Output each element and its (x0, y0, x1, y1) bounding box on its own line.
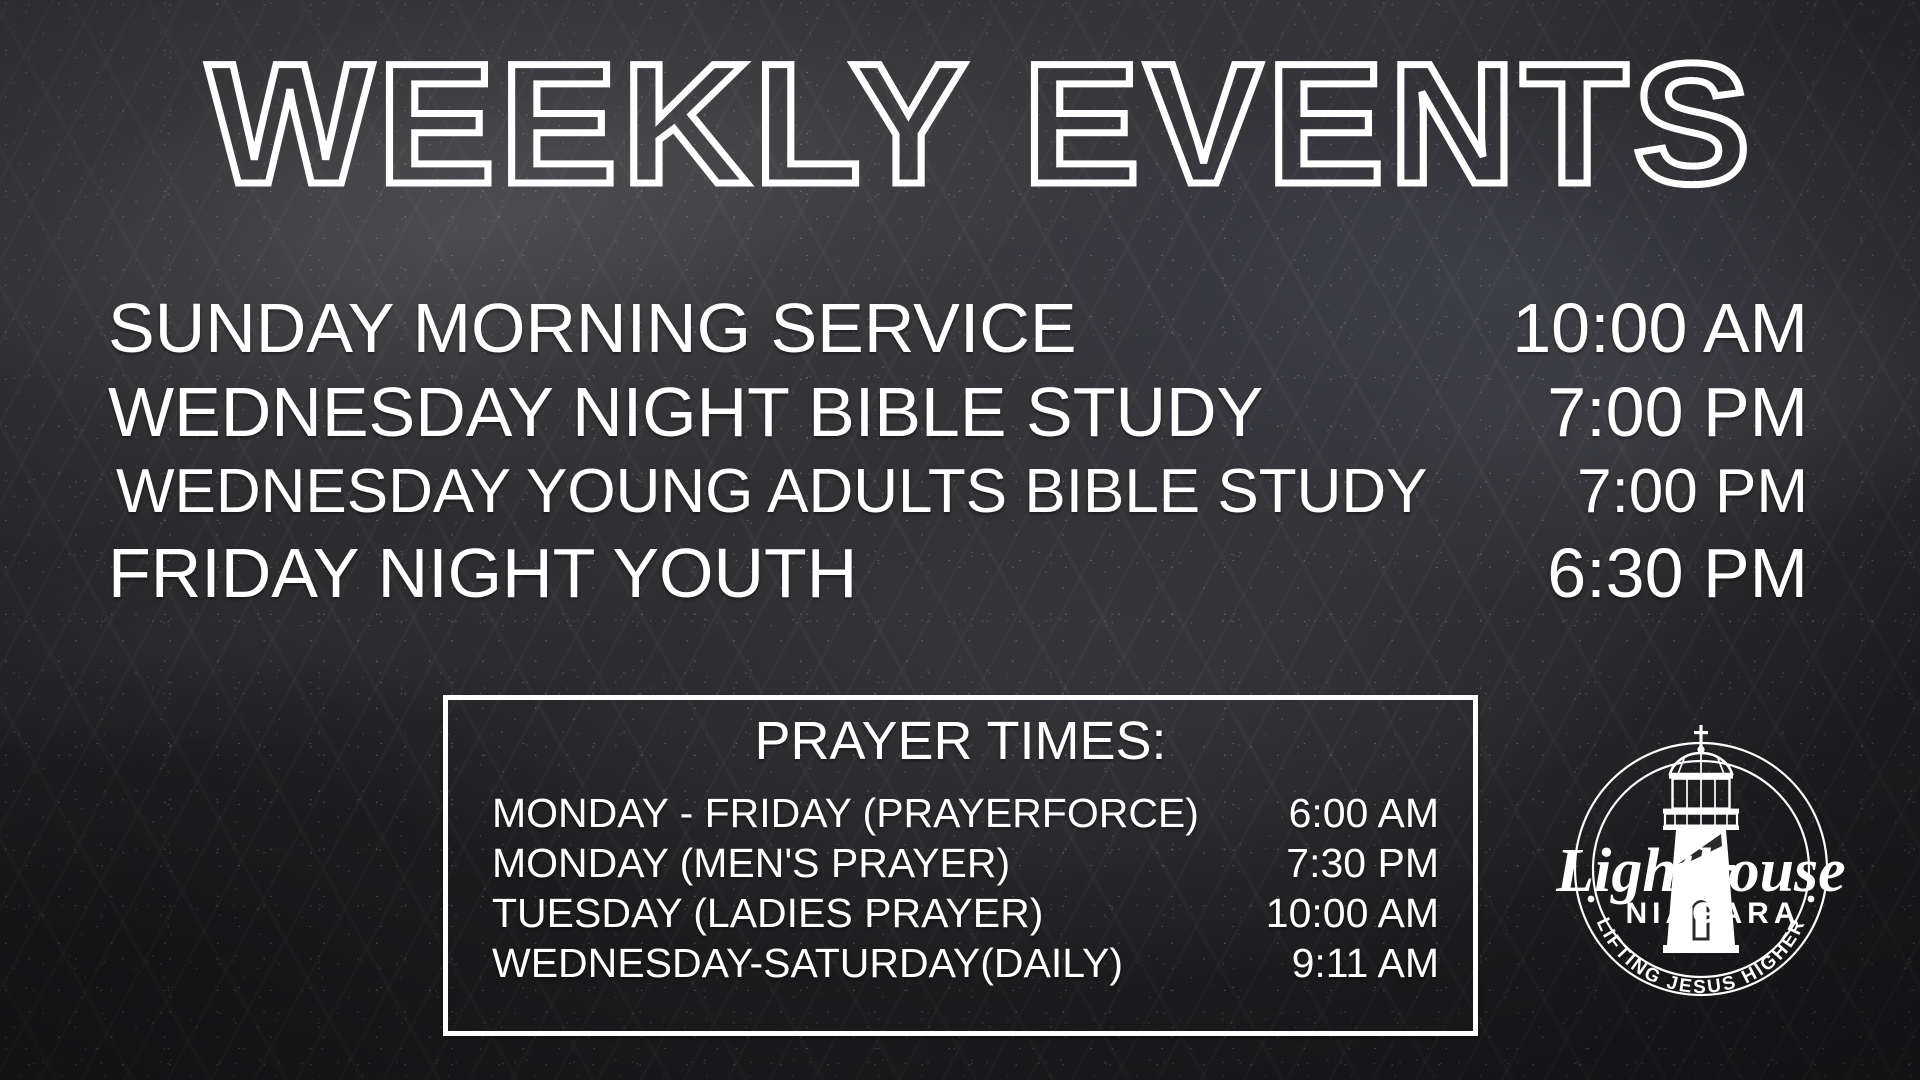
weekly-events-slide: WEEKLY EVENTS SUNDAY MORNING SERVICE 10:… (0, 0, 1920, 1080)
prayer-time: 7:30 PM (1262, 838, 1439, 888)
prayer-time: 6:00 AM (1265, 788, 1439, 838)
logo-dot-right (1808, 896, 1815, 903)
prayer-time: 10:00 AM (1242, 888, 1439, 938)
prayer-times-list: MONDAY - FRIDAY (PRAYERFORCE) 6:00 AM MO… (448, 788, 1473, 988)
logo-wordmark: Lighthouse (1555, 837, 1845, 905)
prayer-name: WEDNESDAY-SATURDAY(DAILY) (492, 938, 1123, 988)
event-name: SUNDAY MORNING SERVICE (108, 288, 1077, 368)
event-time: 10:00 AM (1482, 288, 1808, 368)
event-row: WEDNESDAY YOUNG ADULTS BIBLE STUDY 7:00 … (116, 456, 1808, 527)
weekly-events-list: SUNDAY MORNING SERVICE 10:00 AM WEDNESDA… (108, 288, 1808, 613)
event-time: 6:30 PM (1517, 533, 1808, 613)
lighthouse-icon: Lighthouse NIAGARA LIFTING JESUS HIGHER (1545, 713, 1857, 1025)
prayer-time: 9:11 AM (1268, 938, 1439, 988)
logo-subtitle: NIAGARA (1626, 897, 1801, 930)
event-name: FRIDAY NIGHT YOUTH (108, 533, 857, 613)
prayer-name: TUESDAY (LADIES PRAYER) (492, 888, 1043, 938)
prayer-row: MONDAY - FRIDAY (PRAYERFORCE) 6:00 AM (492, 788, 1439, 838)
prayer-row: WEDNESDAY-SATURDAY(DAILY) 9:11 AM (492, 938, 1439, 988)
event-name: WEDNESDAY NIGHT BIBLE STUDY (108, 372, 1263, 452)
prayer-times-heading: PRAYER TIMES: (448, 710, 1473, 772)
lighthouse-niagara-logo: Lighthouse NIAGARA LIFTING JESUS HIGHER (1545, 713, 1857, 1025)
logo-dot-left (1588, 896, 1595, 903)
prayer-row: MONDAY (MEN'S PRAYER) 7:30 PM (492, 838, 1439, 888)
event-row: WEDNESDAY NIGHT BIBLE STUDY 7:00 PM (108, 372, 1808, 452)
event-time: 7:00 PM (1517, 372, 1808, 452)
prayer-row: TUESDAY (LADIES PRAYER) 10:00 AM (492, 888, 1439, 938)
page-title: WEEKLY EVENTS (104, 44, 1858, 204)
prayer-name: MONDAY - FRIDAY (PRAYERFORCE) (492, 788, 1199, 838)
event-row: SUNDAY MORNING SERVICE 10:00 AM (108, 288, 1808, 368)
prayer-times-panel: PRAYER TIMES: MONDAY - FRIDAY (PRAYERFOR… (443, 695, 1478, 1036)
slide-content: WEEKLY EVENTS SUNDAY MORNING SERVICE 10:… (0, 0, 1920, 1080)
prayer-name: MONDAY (MEN'S PRAYER) (492, 838, 1010, 888)
event-name: WEDNESDAY YOUNG ADULTS BIBLE STUDY (116, 456, 1428, 527)
event-time: 7:00 PM (1547, 456, 1808, 527)
event-row: FRIDAY NIGHT YOUTH 6:30 PM (108, 533, 1808, 613)
